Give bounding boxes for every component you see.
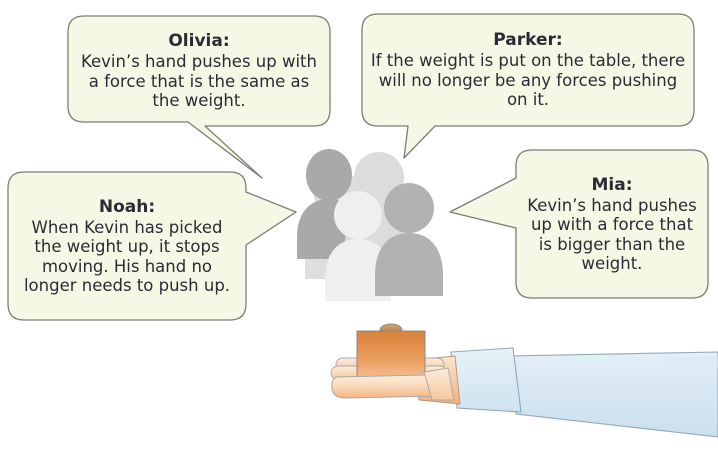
hand-holding-weight-illustration [331,324,718,437]
speech-text-mia: Kevin’s hand pushes up with a force that… [524,196,700,274]
weight-block [357,324,425,377]
speech-text-parker: If the weight is put on the table, there… [370,51,686,109]
speech-text-noah: When Kevin has picked the weight up, it … [18,218,236,296]
speaker-name-mia: Mia: [591,175,632,195]
speaker-name-olivia: Olivia: [168,31,229,51]
speech-bubble-mia: Mia: Kevin’s hand pushes up with a force… [516,150,708,298]
speech-bubble-olivia: Olivia: Kevin’s hand pushes up with a fo… [68,16,330,126]
illustration-canvas: Olivia: Kevin’s hand pushes up with a fo… [0,0,718,450]
speech-bubble-noah: Noah: When Kevin has picked the weight u… [8,172,246,320]
people-group [297,149,443,301]
speaker-name-parker: Parker: [493,30,562,50]
open-palm [332,374,440,398]
speaker-name-noah: Noah: [99,197,155,217]
sleeve-cuff [451,348,521,412]
speech-text-olivia: Kevin’s hand pushes up with a force that… [78,52,320,110]
speech-bubble-parker: Parker: If the weight is put on the tabl… [362,14,694,126]
weight-body [357,331,425,377]
shirt-sleeve-fold [666,356,718,368]
